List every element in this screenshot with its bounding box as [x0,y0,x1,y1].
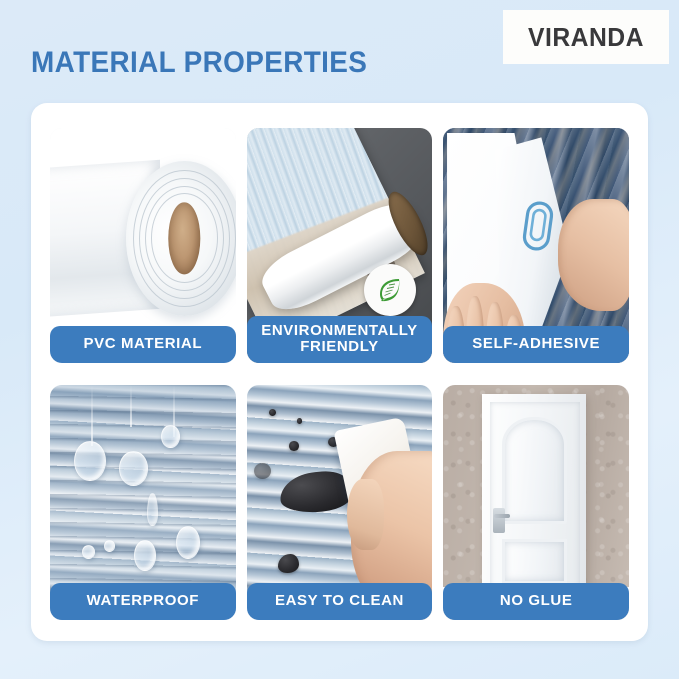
leaf-icon [373,273,407,307]
feature-label-environmentally-friendly: ENVIRONMENTALLY FRIENDLY [247,316,433,363]
door-frame [482,394,586,591]
features-grid: PVC MATERIAL [50,128,629,620]
right-hand [558,199,629,312]
feature-label-waterproof: WATERPROOF [50,583,236,620]
thumb [347,479,384,550]
eco-badge [364,264,416,316]
feature-label-self-adhesive: SELF-ADHESIVE [443,326,629,363]
page-title: MATERIAL PROPERTIES [31,46,367,80]
brand-logo-box: VIRANDA [503,10,669,64]
feature-label-no-glue: NO GLUE [443,583,629,620]
feature-label-line-1: ENVIRONMENTALLY [261,322,418,339]
feature-label-pvc-material: PVC MATERIAL [50,326,236,363]
feature-label-line-2: FRIENDLY [300,338,378,355]
door [490,402,580,592]
features-card: PVC MATERIAL [31,103,648,641]
feature-label-easy-to-clean: EASY TO CLEAN [247,583,433,620]
feature-tile-no-glue[interactable]: NO GLUE [443,385,629,620]
door-handle [493,508,505,533]
feature-tile-self-adhesive[interactable]: SELF-ADHESIVE [443,128,629,363]
feature-tile-easy-to-clean[interactable]: EASY TO CLEAN [247,385,433,620]
feature-tile-environmentally-friendly[interactable]: ENVIRONMENTALLY FRIENDLY [247,128,433,363]
feature-tile-waterproof[interactable]: WATERPROOF [50,385,236,620]
feature-tile-pvc-material[interactable]: PVC MATERIAL [50,128,236,363]
brand-name: VIRANDA [528,22,644,53]
